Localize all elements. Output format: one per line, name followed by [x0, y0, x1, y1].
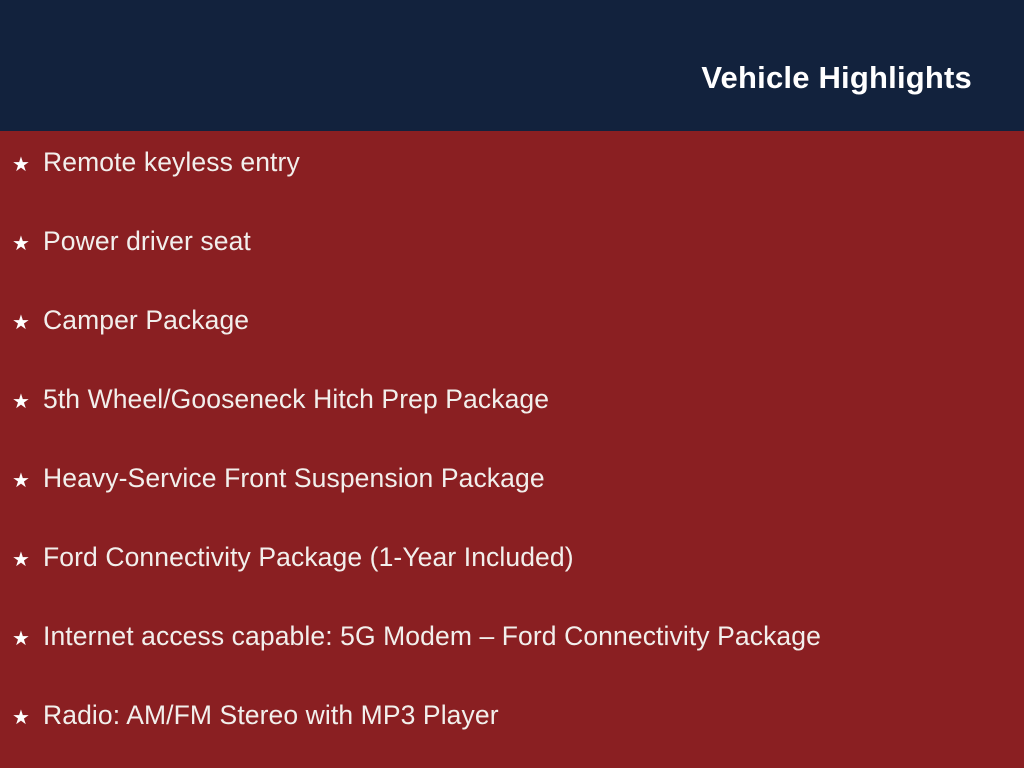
list-item: ★ Power driver seat	[0, 227, 1024, 306]
star-icon: ★	[12, 629, 43, 649]
list-item: ★ Heavy-Service Front Suspension Package	[0, 464, 1024, 543]
star-icon: ★	[12, 313, 43, 333]
list-item-label: Internet access capable: 5G Modem – Ford…	[43, 622, 821, 651]
list-item-label: Ford Connectivity Package (1-Year Includ…	[43, 543, 574, 572]
star-icon: ★	[12, 708, 43, 728]
list-item: ★ Radio: AM/FM Stereo with MP3 Player	[0, 701, 1024, 768]
list-item: ★ Remote keyless entry	[0, 148, 1024, 227]
list-item: ★ Camper Package	[0, 306, 1024, 385]
list-item: ★ Ford Connectivity Package (1-Year Incl…	[0, 543, 1024, 622]
star-icon: ★	[12, 471, 43, 491]
slide-body: ★ Remote keyless entry ★ Power driver se…	[0, 131, 1024, 768]
slide-header: Vehicle Highlights	[0, 0, 1024, 131]
star-icon: ★	[12, 392, 43, 412]
list-item: ★ Internet access capable: 5G Modem – Fo…	[0, 622, 1024, 701]
vehicle-highlights-slide: Vehicle Highlights ★ Remote keyless entr…	[0, 0, 1024, 768]
list-item: ★ 5th Wheel/Gooseneck Hitch Prep Package	[0, 385, 1024, 464]
list-item-label: Camper Package	[43, 306, 249, 335]
star-icon: ★	[12, 155, 43, 175]
vehicle-highlights-list: ★ Remote keyless entry ★ Power driver se…	[0, 148, 1024, 768]
star-icon: ★	[12, 550, 43, 570]
list-item-label: Heavy-Service Front Suspension Package	[43, 464, 545, 493]
page-title: Vehicle Highlights	[701, 36, 1024, 96]
list-item-label: 5th Wheel/Gooseneck Hitch Prep Package	[43, 385, 549, 414]
list-item-label: Radio: AM/FM Stereo with MP3 Player	[43, 701, 499, 730]
list-item-label: Remote keyless entry	[43, 148, 300, 177]
list-item-label: Power driver seat	[43, 227, 251, 256]
star-icon: ★	[12, 234, 43, 254]
